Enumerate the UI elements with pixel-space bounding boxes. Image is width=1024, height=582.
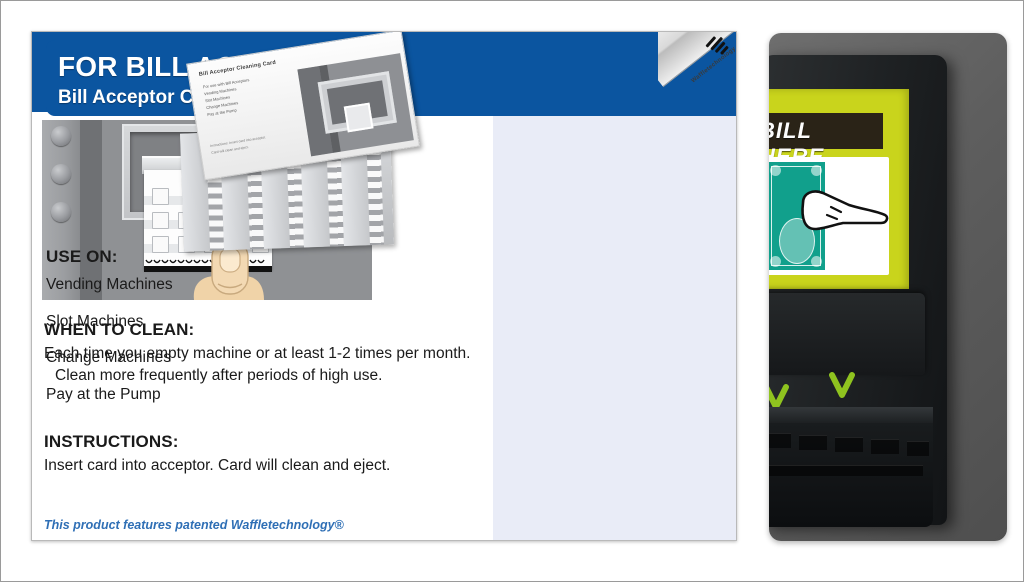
- green-chevron-icon: [829, 371, 855, 401]
- bill-insert-graphic: [769, 157, 889, 275]
- atm-button-1: [51, 126, 71, 146]
- atm-button-panel: [42, 120, 80, 300]
- list-item: Vending Machines: [46, 277, 264, 293]
- list-item: Insert card into acceptor. Card will cle…: [44, 455, 492, 477]
- cleaning-card-title: Bill Acceptor Cleaning Card: [199, 60, 277, 78]
- list-item: Pay at the Pump: [46, 387, 264, 403]
- list-item: Slot Machines: [46, 314, 264, 330]
- cleaning-card-photo: Bill Acceptor Cleaning Card For use with…: [180, 34, 440, 254]
- screenshot-page: FOR BILL ACCEPTORS: Bill Acceptor Cleani…: [0, 0, 1024, 582]
- instructions-heading: INSTRUCTIONS:: [44, 432, 492, 452]
- atm-dark-strip: [80, 120, 102, 300]
- acceptor-faceplate: BILL HERE: [769, 89, 909, 289]
- bill-here-label-bar: BILL HERE: [769, 113, 883, 149]
- instructions-section: INSTRUCTIONS: Insert card into acceptor.…: [44, 432, 492, 477]
- acceptor-body: BILL HERE: [769, 55, 947, 525]
- use-on-list: Vending Machines Slot Machines Change Ma…: [46, 277, 264, 423]
- atm-button-2: [51, 164, 71, 184]
- literature-card: FOR BILL ACCEPTORS: Bill Acceptor Cleani…: [31, 31, 737, 541]
- bill-acceptor-product-photo: BILL HERE: [769, 33, 1007, 541]
- patent-tagline: This product features patented Waffletec…: [44, 518, 484, 532]
- atm-button-3: [51, 202, 71, 222]
- acceptor-bill-stacker: [769, 407, 933, 527]
- page-canvas: FOR BILL ACCEPTORS: Bill Acceptor Cleani…: [5, 5, 1019, 577]
- waffletechnology-corner-badge: Waffletechnology: [658, 32, 736, 94]
- use-on-heading: USE ON:: [46, 247, 118, 267]
- instructions-list: Insert card into acceptor. Card will cle…: [44, 455, 492, 477]
- list-item: Change Machines: [46, 350, 264, 366]
- pointing-finger-icon: [797, 185, 889, 255]
- cleaning-card-machine-image: [297, 53, 413, 156]
- acceptor-lower-bezel: [769, 293, 925, 375]
